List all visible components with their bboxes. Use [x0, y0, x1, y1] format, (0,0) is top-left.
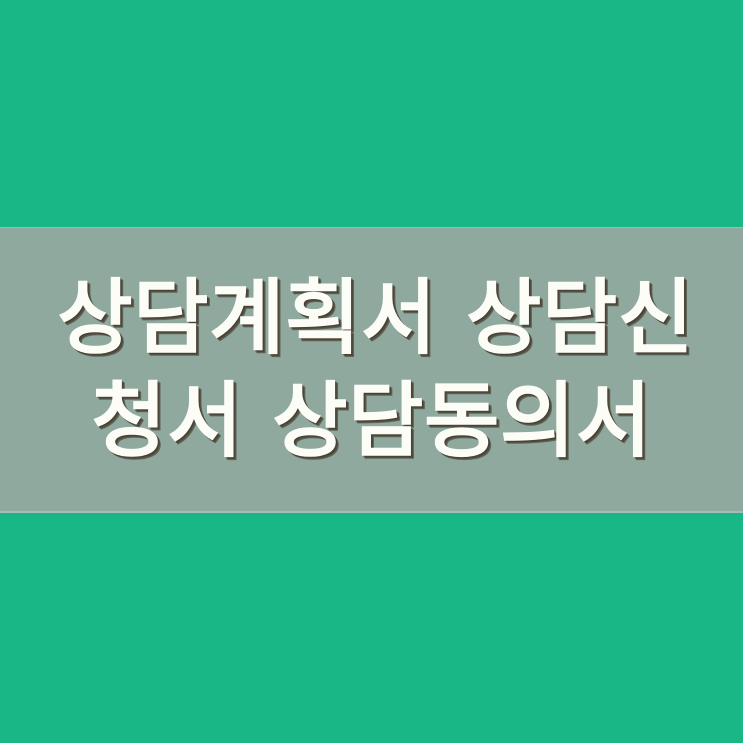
headline-line-1: 상담계획서 상담신	[57, 271, 694, 368]
headline-line-2: 청서 상담동의서	[91, 374, 652, 471]
thumbnail-canvas: 상담계획서 상담신 청서 상담동의서	[0, 0, 743, 743]
headline-block: 상담계획서 상담신 청서 상담동의서	[0, 228, 743, 513]
